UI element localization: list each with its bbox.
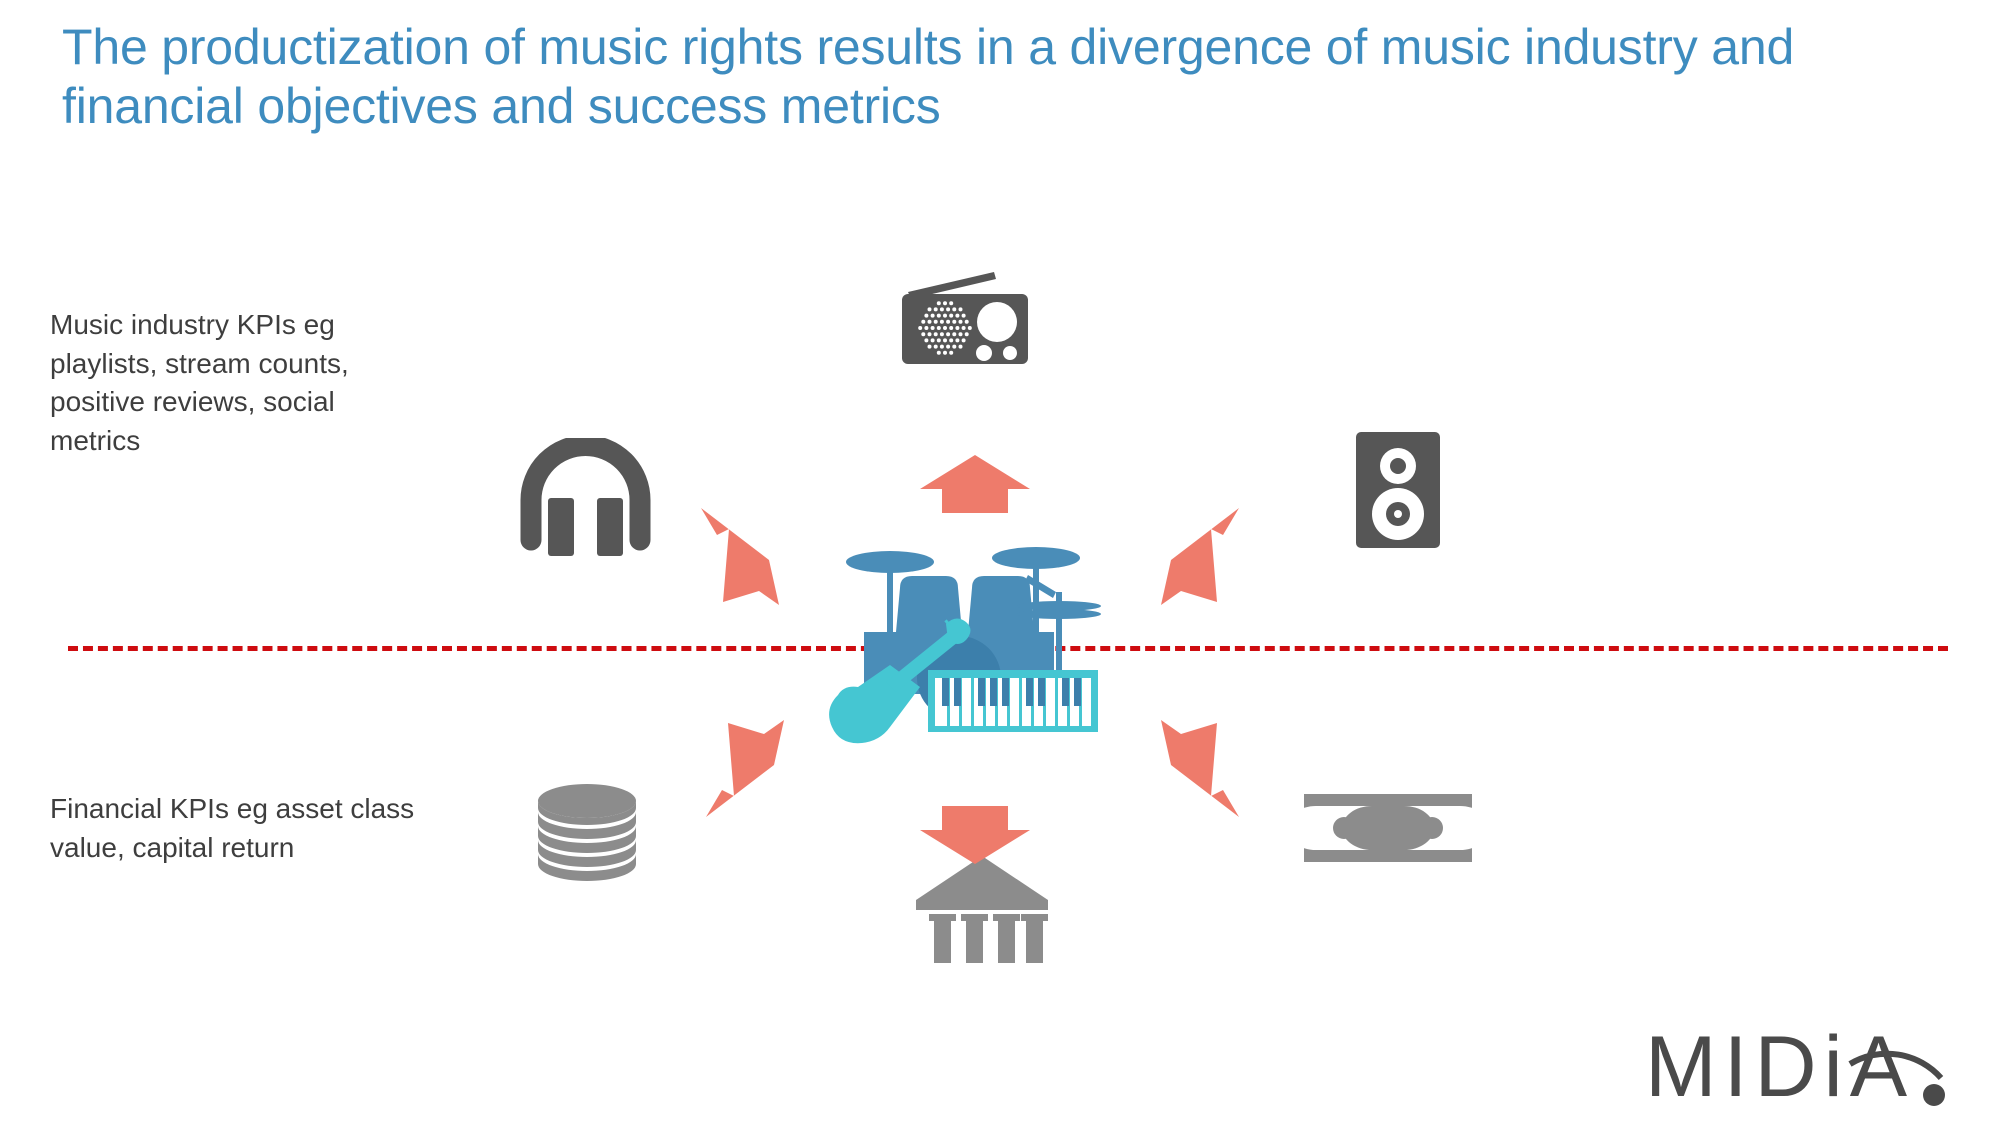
music-kpi-label: Music industry KPIs eg playlists, stream… — [50, 306, 430, 461]
arrow-up-left-icon — [695, 505, 780, 610]
banknote-icon — [1302, 792, 1474, 864]
speaker-icon — [1352, 430, 1444, 550]
midia-logo: MIDiA — [1645, 1012, 1955, 1110]
headphones-icon — [518, 438, 653, 556]
band-instruments-icon — [820, 520, 1140, 750]
logo-text: MIDiA — [1645, 1019, 1914, 1110]
arrow-up-icon — [920, 455, 1030, 513]
radio-icon — [900, 270, 1030, 365]
arrow-down-icon — [920, 806, 1030, 864]
page-title: The productization of music rights resul… — [62, 18, 1942, 136]
coin-stack-icon — [532, 782, 642, 887]
arrow-down-left-icon — [700, 715, 785, 820]
financial-kpi-label: Financial KPIs eg asset class value, cap… — [50, 790, 420, 867]
slide-canvas: The productization of music rights resul… — [0, 0, 2000, 1125]
arrow-up-right-icon — [1160, 505, 1245, 610]
arrow-down-right-icon — [1160, 715, 1245, 820]
